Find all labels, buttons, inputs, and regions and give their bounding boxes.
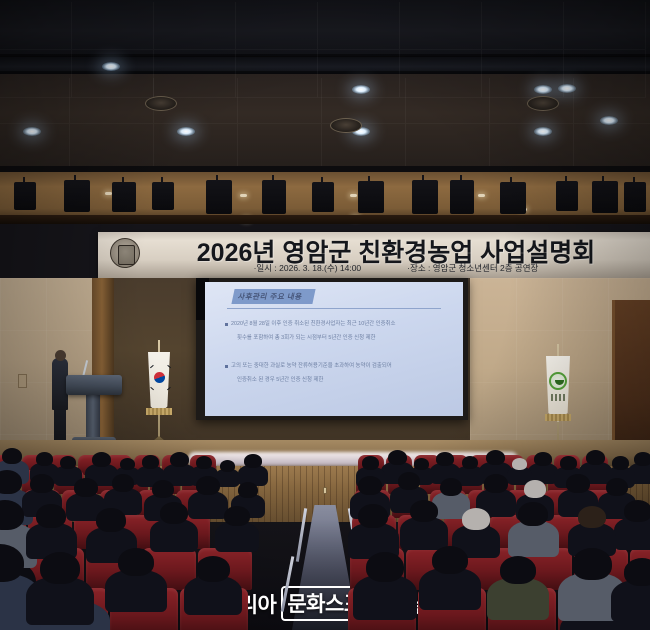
audience-shoulders	[419, 568, 480, 610]
ceiling-tile	[0, 78, 70, 124]
stage-light-fixture	[152, 182, 174, 210]
audience-head	[624, 558, 650, 586]
stage-slat	[312, 466, 313, 522]
audience-head	[436, 452, 454, 466]
ceiling-tile	[400, 2, 482, 50]
event-banner: 2026년 영암군 친환경농업 사업설명회 ·일시 : 2026. 3. 18.…	[98, 232, 650, 278]
slide-bullet-2-line1: 고의 또는 중대한 과실로 농약 잔류허용기준을 초과하여 농약이 검출되어	[231, 363, 392, 369]
audience-head	[440, 478, 462, 496]
audience-head	[170, 452, 189, 467]
audience-head	[160, 502, 188, 524]
audience-head	[572, 548, 612, 580]
banner-location: ·장소 : 영암군 청소년센터 2층 공연장	[407, 262, 538, 274]
ceiling-downlight	[534, 127, 552, 136]
stage-slat	[276, 466, 277, 522]
slide-bullet-1-line1: 2020년 8월 28일 이후 인증 취소된 친환경사업자는 최근 10년간 인…	[231, 321, 395, 327]
audience-head	[358, 504, 388, 528]
truss-wall-light	[478, 194, 485, 197]
audience-head	[238, 482, 258, 498]
audience-head	[518, 502, 548, 526]
truss-wall-light	[105, 192, 112, 195]
ceiling-tile	[482, 2, 564, 50]
audience-shoulders	[614, 517, 650, 550]
ceiling-downlight	[177, 127, 195, 136]
ceiling-tile	[406, 78, 490, 124]
county-green-emblem-icon	[549, 372, 567, 390]
audience-head	[534, 452, 552, 466]
audience-head	[196, 476, 220, 495]
audience-head	[60, 456, 76, 469]
audience-head	[388, 450, 407, 465]
stage-slat	[294, 466, 295, 522]
truss-wall-light	[243, 218, 250, 221]
slide-divider	[227, 308, 441, 309]
flag-inscription	[551, 394, 565, 401]
stage-light-fixture	[450, 180, 474, 214]
stage-light-fixture	[262, 180, 286, 214]
audience-head	[120, 458, 135, 470]
audience-shoulders	[188, 491, 229, 520]
banner-datetime: ·일시 : 2026. 3. 18.(수) 14:00	[254, 262, 362, 274]
ceiling-can-light	[330, 118, 362, 133]
audience-head	[410, 500, 438, 522]
ceiling-downlight	[534, 85, 552, 94]
ceiling-downlight	[23, 127, 41, 136]
ceiling-tile	[564, 2, 646, 50]
ceiling-tile	[238, 78, 322, 124]
audience-head	[462, 456, 478, 469]
ceiling-tile	[236, 2, 318, 50]
audience-head	[432, 546, 468, 574]
ceiling-tile	[154, 2, 236, 50]
projection-screen: 사후관리 주요 내용 2020년 8월 28일 이후 인증 취소된 친환경사업자…	[205, 282, 463, 416]
audience-head	[624, 500, 650, 522]
audience-head	[112, 474, 134, 492]
audience-head	[196, 556, 230, 582]
audience-head	[2, 448, 22, 464]
audience-head	[606, 478, 628, 496]
lectern	[66, 375, 122, 395]
ceiling-tile	[70, 78, 154, 124]
stage-light-fixture	[624, 182, 646, 212]
slide-bullet-1: 2020년 8월 28일 이후 인증 취소된 친환경사업자는 최근 10년간 인…	[231, 322, 443, 341]
ceiling-tile	[70, 124, 154, 170]
slide-bullet-1-line2: 횟수를 포함하여 총 3회가 되는 시점부터 5년간 인증 신청 제한	[237, 336, 443, 342]
ceremonial-flag-fringe	[545, 414, 571, 421]
audience-head	[30, 474, 54, 493]
audience-head	[74, 478, 98, 497]
audience-shoulders	[487, 578, 548, 620]
audience-head	[398, 472, 420, 490]
audience-head	[586, 450, 605, 465]
audience-head	[578, 506, 606, 528]
ceiling-tile	[238, 124, 322, 170]
audience-shoulders	[353, 575, 418, 620]
audience-head	[462, 508, 490, 530]
banner-subtitle: ·일시 : 2026. 3. 18.(수) 14:00 ·장소 : 영암군 청소…	[150, 262, 642, 274]
audience-head	[414, 458, 429, 470]
presenter-head	[55, 350, 66, 361]
ceiling-tile	[154, 124, 238, 170]
audience-shoulders	[184, 576, 242, 615]
bullet-marker-icon	[225, 365, 228, 368]
audience-shoulders	[611, 580, 650, 622]
wall-switch-plate	[18, 374, 27, 388]
audience-head	[36, 452, 53, 466]
audience-head	[220, 460, 235, 472]
bullet-marker-icon	[225, 323, 228, 326]
audience-shoulders	[105, 570, 166, 612]
slide-title: 사후관리 주요 내용	[231, 289, 316, 304]
slide-bullet-2-line2: 인증취소 된 경우 5년간 인증 신청 제한	[237, 378, 443, 384]
ceiling-downlight	[102, 62, 120, 71]
audience-head	[36, 504, 66, 528]
ceiling-tile	[490, 124, 574, 170]
audience-head	[0, 470, 22, 494]
audience-head	[92, 452, 111, 467]
ceiling-can-light	[145, 96, 177, 111]
audience-head	[566, 474, 590, 493]
stage-slat	[300, 466, 301, 522]
audience-head	[224, 506, 250, 526]
audience-head	[366, 552, 404, 582]
stage-light-fixture	[412, 180, 438, 214]
audience-head	[142, 455, 159, 469]
stage-slat	[282, 466, 283, 522]
audience-head	[612, 456, 629, 470]
stage-light-fixture	[14, 182, 36, 210]
ceiling-tile	[72, 2, 154, 50]
audience-head	[358, 476, 382, 495]
audience-head	[500, 556, 536, 584]
audience-head	[560, 456, 577, 470]
audience-head	[152, 480, 174, 498]
audience-head	[118, 548, 154, 576]
stage-panel-knob	[323, 487, 327, 494]
audience-head	[486, 450, 505, 465]
ceiling-tile	[406, 124, 490, 170]
audience-head	[362, 456, 379, 470]
audience-head	[634, 452, 650, 466]
ceiling-downlight	[558, 84, 576, 93]
audience-head	[196, 456, 212, 469]
audience-shoulders	[26, 577, 94, 625]
audience-head	[484, 474, 508, 493]
korean-national-flag	[148, 352, 170, 414]
stage-light-fixture	[556, 181, 578, 211]
stage-light-fixture	[358, 181, 384, 213]
ceiling-tile	[574, 124, 650, 170]
ceiling-downlight	[600, 116, 618, 125]
truss-wall-light	[350, 194, 357, 197]
ceiling-tile	[318, 2, 400, 50]
stage-light-fixture	[112, 182, 136, 212]
stage-slat	[342, 466, 343, 522]
taeguk-icon	[154, 372, 165, 383]
stage-slat	[288, 466, 289, 522]
stage-slat	[270, 466, 271, 522]
ceiling-can-light	[527, 96, 559, 111]
audience-head	[512, 458, 527, 470]
stage-light-fixture	[312, 182, 334, 212]
truss-wall-light	[240, 194, 247, 197]
audience-head	[96, 508, 126, 532]
ceiling-downlight	[352, 85, 370, 94]
stage-light-fixture	[500, 182, 526, 214]
stage-light-fixture	[592, 181, 618, 213]
audience-shoulders	[508, 521, 559, 557]
audience-shoulders	[400, 517, 448, 550]
stage-light-fixture	[206, 180, 232, 214]
audience-head	[244, 454, 262, 468]
photo-scene: 2026년 영암군 친환경농업 사업설명회 ·일시 : 2026. 3. 18.…	[0, 0, 650, 630]
ceiling-tile	[0, 2, 72, 50]
audience-head	[524, 480, 546, 498]
stage-light-fixture	[64, 180, 90, 212]
korean-flag-fringe	[146, 408, 172, 415]
audience-shoulders	[150, 519, 198, 552]
audience-head	[40, 552, 80, 584]
yeongam-county-emblem-icon	[110, 238, 140, 268]
audience-shoulders	[215, 522, 259, 552]
lectern-stem	[86, 395, 100, 443]
truss-wall-light	[352, 216, 359, 219]
slide-bullet-2: 고의 또는 중대한 과실로 농약 잔류허용기준을 초과하여 농약이 검출되어 인…	[231, 364, 443, 383]
